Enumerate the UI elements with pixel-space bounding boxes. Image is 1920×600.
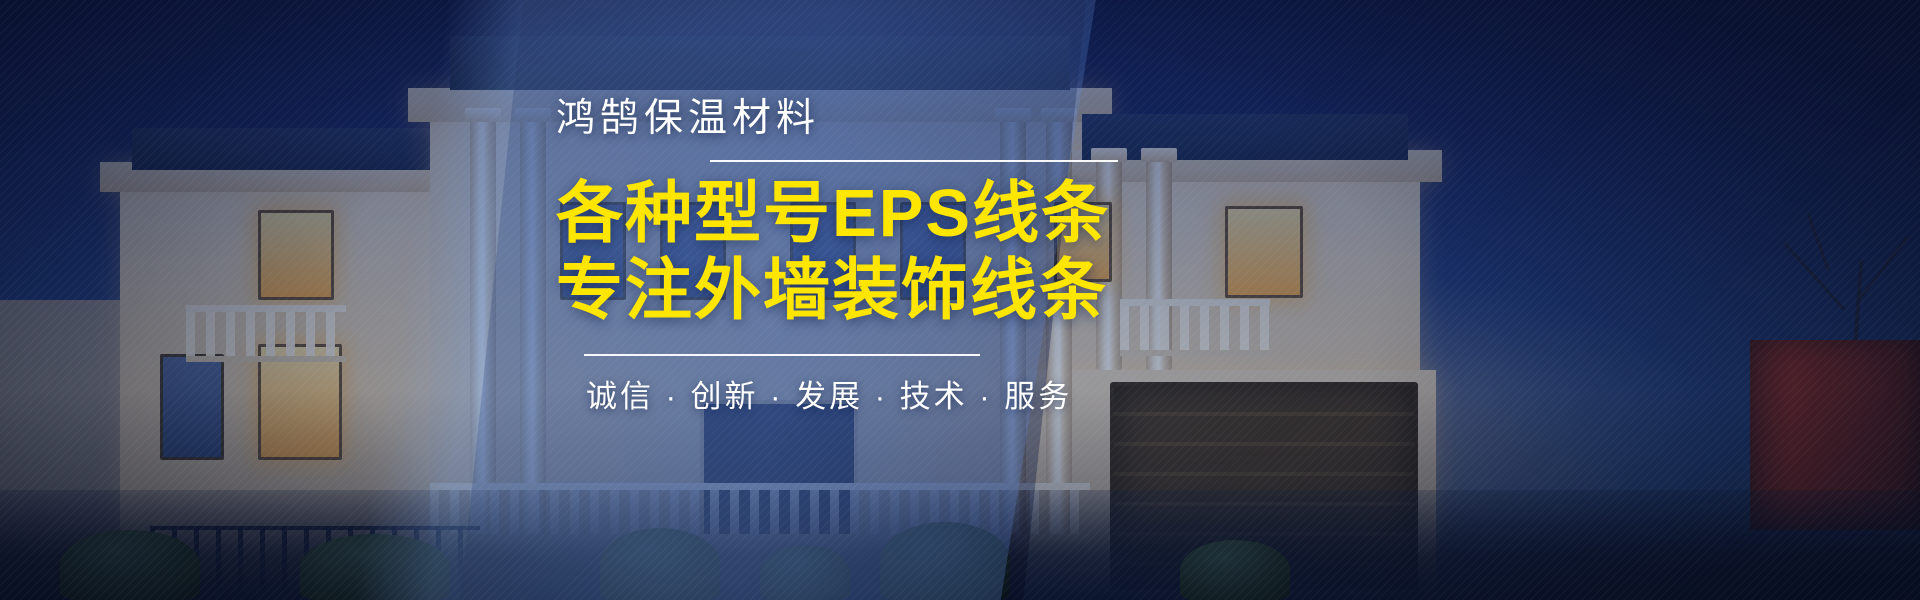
brand-name: 鸿鹄保温材料	[556, 96, 1196, 143]
hero-banner: 鸿鹄保温材料 各种型号EPS线条 专注外墙装饰线条 诚信 · 创新 · 发展 ·…	[0, 0, 1920, 600]
banner-copy: 鸿鹄保温材料 各种型号EPS线条 专注外墙装饰线条 诚信 · 创新 · 发展 ·…	[556, 96, 1196, 416]
headline-line-1: 各种型号EPS线条	[556, 176, 1196, 251]
divider-top	[710, 160, 1118, 162]
headline-line-2: 专注外墙装饰线条	[556, 253, 1196, 328]
divider-bottom	[584, 354, 980, 356]
tagline: 诚信 · 创新 · 发展 · 技术 · 服务	[586, 371, 1196, 416]
